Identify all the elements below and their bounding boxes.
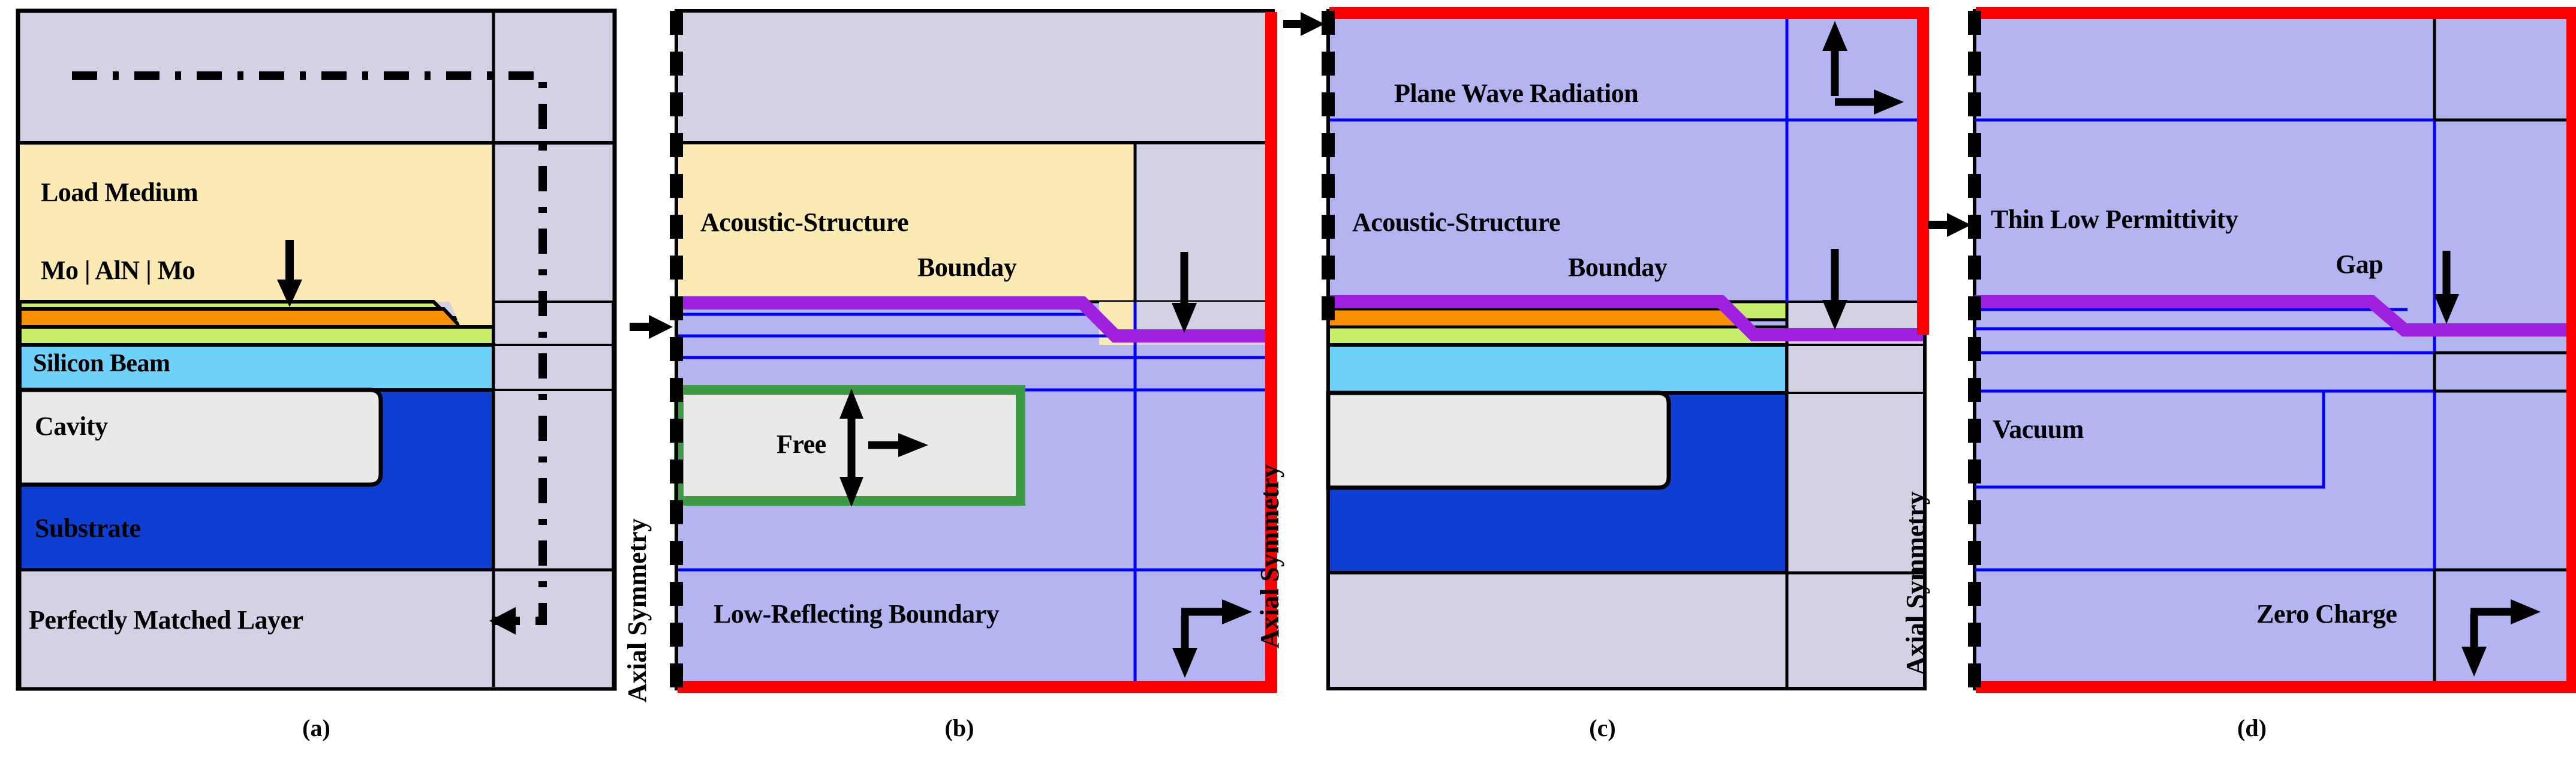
pml-side-strip-beam-c bbox=[1787, 345, 1925, 393]
caption-a: (a) bbox=[0, 714, 633, 742]
pml-side-strip-stack bbox=[493, 302, 613, 345]
caption-c: (c) bbox=[1280, 714, 1925, 742]
label-load-medium: Load Medium bbox=[41, 177, 198, 208]
figure-root: Load Medium Mo | AlN | Mo Silicon Beam C… bbox=[0, 0, 2576, 772]
label-acoustic-structure-b: Acoustic-Structure bbox=[700, 207, 908, 238]
aln-layer bbox=[20, 309, 461, 327]
label-silicon-beam: Silicon Beam bbox=[33, 349, 170, 378]
panel-d: Thin Low Permittivity Gap Vacuum Zero Ch… bbox=[1928, 0, 2576, 772]
mo-bottom-layer bbox=[20, 327, 493, 345]
panel-c: Acoustic-Structure Bounday Plane Wave Ra… bbox=[1280, 0, 1925, 772]
mo-bottom-layer-c bbox=[1328, 327, 1787, 345]
label-mo-aln-mo: Mo | AlN | Mo bbox=[41, 255, 195, 286]
pml-side-strip-beam bbox=[493, 345, 613, 390]
label-gap: Gap bbox=[2336, 249, 2383, 280]
label-vacuum: Vacuum bbox=[1993, 414, 2084, 444]
caption-d: (d) bbox=[1928, 714, 2576, 742]
label-substrate: Substrate bbox=[35, 513, 140, 543]
pml-top-region-b bbox=[676, 11, 1273, 143]
label-axial-symmetry-c: Axial Symmetry bbox=[1254, 464, 1285, 648]
label-axial-symmetry-b: Axial Symmetry bbox=[622, 518, 652, 702]
axial-arrow-head-c bbox=[1301, 12, 1325, 36]
axial-arrow-head-b bbox=[649, 315, 673, 339]
pml-side-strip-substrate bbox=[493, 390, 613, 570]
axial-arrow-head-d bbox=[1947, 213, 1971, 237]
label-axial-symmetry-d: Axial Symmetry bbox=[1900, 491, 1931, 675]
label-cavity: Cavity bbox=[35, 411, 108, 441]
pml-side-top-b bbox=[1135, 143, 1273, 302]
panel-b: Acoustic-Structure Bounday Free Low-Refl… bbox=[642, 0, 1277, 772]
label-low-reflecting-boundary: Low-Reflecting Boundary bbox=[714, 599, 999, 629]
label-thin-low-permittivity: Thin Low Permittivity bbox=[1991, 204, 2238, 235]
panel-d-body bbox=[1975, 11, 2574, 689]
cavity-region-c bbox=[1328, 393, 1669, 488]
label-bounday-b: Bounday bbox=[917, 252, 1016, 283]
caption-b: (b) bbox=[642, 714, 1277, 742]
panel-d-diagram bbox=[1928, 0, 2576, 714]
label-perfectly-matched-layer: Perfectly Matched Layer bbox=[29, 605, 303, 635]
pml-bottom-region-c bbox=[1328, 573, 1925, 689]
silicon-beam-region-c bbox=[1328, 345, 1787, 393]
label-acoustic-structure-c: Acoustic-Structure bbox=[1352, 207, 1560, 238]
label-free: Free bbox=[777, 429, 826, 459]
label-plane-wave-radiation: Plane Wave Radiation bbox=[1394, 78, 1638, 109]
panel-a: Load Medium Mo | AlN | Mo Silicon Beam C… bbox=[0, 0, 642, 772]
label-bounday-c: Bounday bbox=[1568, 252, 1667, 283]
label-zero-charge: Zero Charge bbox=[2256, 599, 2397, 629]
